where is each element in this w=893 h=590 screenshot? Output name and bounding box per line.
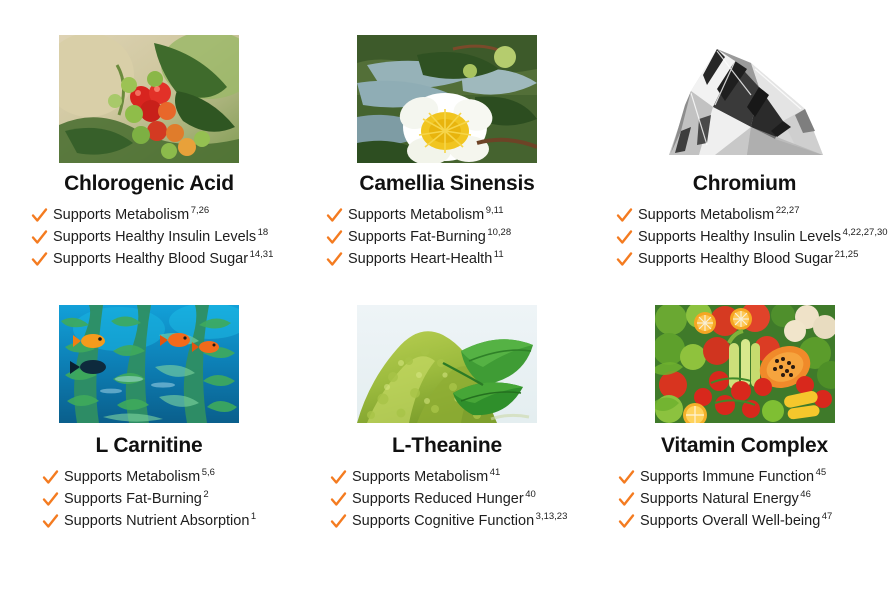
- benefit-item: Supports Fat-Burning10,28: [326, 228, 592, 247]
- benefit-refs: 14,31: [250, 249, 274, 260]
- ingredient-image-l-carnitine: [59, 305, 239, 423]
- ingredient-title: Chlorogenic Acid: [64, 172, 234, 195]
- ingredient-image-chromium: [655, 35, 835, 163]
- ingredient-card-chromium: Chromium Supports Metabolism22,27 Suppor…: [596, 0, 893, 295]
- ingredient-title: L-Theanine: [392, 434, 502, 457]
- benefit-refs: 21,25: [835, 249, 859, 260]
- benefit-refs: 45: [816, 467, 827, 478]
- ingredient-grid: Chlorogenic Acid Supports Metabolism7,26…: [0, 0, 893, 590]
- benefit-item: Supports Fat-Burning2: [42, 490, 292, 509]
- benefit-list: Supports Immune Function45 Supports Natu…: [618, 468, 888, 534]
- benefit-item: Supports Metabolism7,26: [31, 206, 293, 225]
- benefit-item: Supports Healthy Blood Sugar21,25: [616, 250, 888, 269]
- benefit-item: Supports Metabolism41: [330, 468, 590, 487]
- benefit-refs: 46: [800, 489, 811, 500]
- benefit-refs: 40: [525, 489, 536, 500]
- benefit-label: Supports Metabolism: [64, 469, 200, 485]
- check-icon: [326, 250, 343, 269]
- benefit-item: Supports Cognitive Function3,13,23: [330, 512, 590, 531]
- ingredient-card-l-carnitine: L Carnitine Supports Metabolism5,6 Suppo…: [0, 295, 298, 590]
- ingredient-card-l-theanine: L-Theanine Supports Metabolism41 Support…: [298, 295, 596, 590]
- benefit-item: Supports Nutrient Absorption1: [42, 512, 292, 531]
- check-icon: [326, 206, 343, 225]
- benefit-label: Supports Immune Function: [640, 469, 814, 485]
- benefit-refs: 3,13,23: [536, 511, 568, 522]
- check-icon: [31, 228, 48, 247]
- check-icon: [42, 490, 59, 509]
- benefit-item: Supports Reduced Hunger40: [330, 490, 590, 509]
- benefit-refs: 41: [490, 467, 501, 478]
- benefit-label: Supports Metabolism: [352, 469, 488, 485]
- benefit-label: Supports Healthy Insulin Levels: [53, 229, 256, 245]
- ingredient-title: Vitamin Complex: [661, 434, 828, 457]
- check-icon: [618, 468, 635, 487]
- check-icon: [616, 250, 633, 269]
- check-icon: [31, 206, 48, 225]
- benefit-item: Supports Overall Well-being47: [618, 512, 888, 531]
- benefit-refs: 2: [203, 489, 208, 500]
- benefit-refs: 4,22,27,30: [843, 227, 888, 238]
- ingredient-title: Camellia Sinensis: [359, 172, 534, 195]
- check-icon: [330, 512, 347, 531]
- benefit-label: Supports Fat-Burning: [348, 229, 486, 245]
- ingredient-image-vitamin-complex: [655, 305, 835, 423]
- benefit-refs: 18: [258, 227, 269, 238]
- benefit-refs: 47: [822, 511, 833, 522]
- benefit-label: Supports Natural Energy: [640, 491, 799, 507]
- benefit-refs: 7,26: [191, 205, 210, 216]
- check-icon: [42, 468, 59, 487]
- benefit-label: Supports Metabolism: [638, 207, 774, 223]
- ingredient-card-chlorogenic-acid: Chlorogenic Acid Supports Metabolism7,26…: [0, 0, 298, 295]
- benefit-item: Supports Natural Energy46: [618, 490, 888, 509]
- benefit-label: Supports Overall Well-being: [640, 513, 820, 529]
- benefit-label: Supports Heart-Health: [348, 251, 492, 267]
- ingredient-title: Chromium: [693, 172, 796, 195]
- benefit-refs: 11: [494, 249, 504, 260]
- benefit-item: Supports Metabolism22,27: [616, 206, 888, 225]
- ingredient-image-l-theanine: [357, 305, 537, 423]
- ingredient-image-chlorogenic-acid: [59, 35, 239, 163]
- ingredient-card-camellia-sinensis: Camellia Sinensis Supports Metabolism9,1…: [298, 0, 596, 295]
- benefit-refs: 9,11: [486, 205, 504, 216]
- check-icon: [330, 468, 347, 487]
- check-icon: [616, 206, 633, 225]
- benefit-item: Supports Metabolism5,6: [42, 468, 292, 487]
- benefit-label: Supports Healthy Blood Sugar: [638, 251, 833, 267]
- check-icon: [330, 490, 347, 509]
- benefit-label: Supports Cognitive Function: [352, 513, 534, 529]
- benefit-list: Supports Metabolism22,27 Supports Health…: [616, 206, 888, 272]
- benefit-label: Supports Nutrient Absorption: [64, 513, 249, 529]
- ingredient-title: L Carnitine: [95, 434, 202, 457]
- ingredient-card-vitamin-complex: Vitamin Complex Supports Immune Function…: [596, 295, 893, 590]
- check-icon: [42, 512, 59, 531]
- benefit-label: Supports Fat-Burning: [64, 491, 202, 507]
- benefit-list: Supports Metabolism7,26 Supports Healthy…: [31, 206, 293, 272]
- check-icon: [618, 512, 635, 531]
- benefit-item: Supports Healthy Insulin Levels18: [31, 228, 293, 247]
- benefit-item: Supports Immune Function45: [618, 468, 888, 487]
- benefit-label: Supports Healthy Blood Sugar: [53, 251, 248, 267]
- benefit-item: Supports Healthy Insulin Levels4,22,27,3…: [616, 228, 888, 247]
- benefit-list: Supports Metabolism41 Supports Reduced H…: [330, 468, 590, 534]
- benefit-refs: 10,28: [487, 227, 511, 238]
- benefit-refs: 22,27: [776, 205, 800, 216]
- benefit-list: Supports Metabolism5,6 Supports Fat-Burn…: [42, 468, 292, 534]
- check-icon: [616, 228, 633, 247]
- benefit-item: Supports Heart-Health11: [326, 250, 592, 269]
- benefit-list: Supports Metabolism9,11 Supports Fat-Bur…: [326, 206, 592, 272]
- check-icon: [326, 228, 343, 247]
- benefit-label: Supports Metabolism: [348, 207, 484, 223]
- check-icon: [618, 490, 635, 509]
- benefit-item: Supports Healthy Blood Sugar14,31: [31, 250, 293, 269]
- benefit-refs: 5,6: [202, 467, 215, 478]
- check-icon: [31, 250, 48, 269]
- benefit-label: Supports Healthy Insulin Levels: [638, 229, 841, 245]
- benefit-label: Supports Reduced Hunger: [352, 491, 524, 507]
- benefit-refs: 1: [251, 511, 256, 522]
- benefit-label: Supports Metabolism: [53, 207, 189, 223]
- ingredient-image-camellia-sinensis: [357, 35, 537, 163]
- benefit-item: Supports Metabolism9,11: [326, 206, 592, 225]
